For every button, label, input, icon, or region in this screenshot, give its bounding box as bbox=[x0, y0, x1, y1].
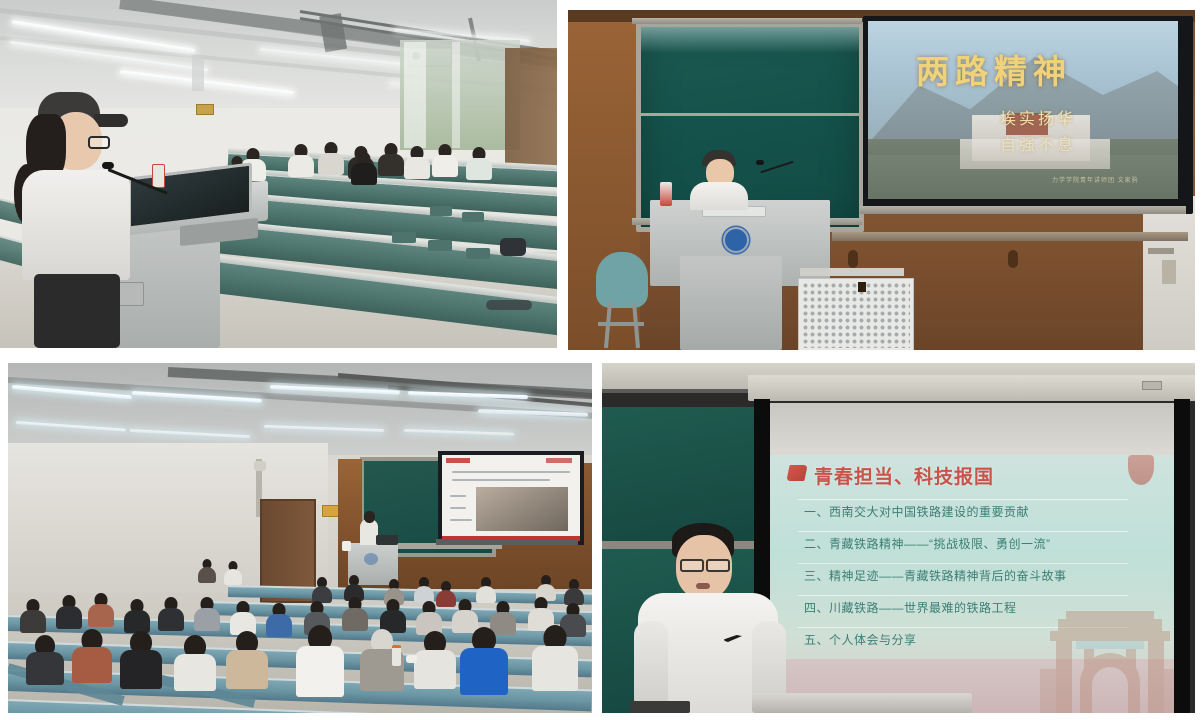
student bbox=[414, 631, 456, 689]
screen-rail bbox=[436, 539, 578, 545]
seat bbox=[462, 212, 484, 222]
student bbox=[124, 599, 150, 633]
wood-column bbox=[338, 459, 362, 551]
student bbox=[532, 625, 578, 691]
pants bbox=[34, 274, 120, 348]
slide-text-line bbox=[450, 495, 466, 497]
window-mullion bbox=[452, 42, 460, 148]
slide-logo bbox=[446, 458, 470, 463]
wall-vent bbox=[798, 278, 914, 350]
slide-item-4: 四、川藏铁路——世界最难的铁路工程 bbox=[804, 599, 1017, 616]
slide-item-divider bbox=[798, 531, 1128, 532]
chair bbox=[596, 252, 648, 308]
slide-item-divider bbox=[798, 499, 1128, 500]
slide-item-3: 三、精神足迹——青藏铁路精神背后的奋斗故事 bbox=[804, 567, 1067, 584]
student bbox=[198, 559, 216, 583]
slide-item-2: 二、青藏铁路精神——“挑战极限、勇创一流” bbox=[804, 535, 1051, 552]
seat bbox=[392, 232, 416, 243]
presenter bbox=[16, 92, 146, 348]
seat bbox=[428, 240, 452, 251]
chair-cross bbox=[598, 322, 644, 326]
mouth bbox=[696, 583, 710, 589]
torso bbox=[690, 182, 748, 210]
student bbox=[266, 603, 292, 637]
projection-screen: 两路精神 埃实扬华 自强不息 力学学院青年讲师团 文家驹 bbox=[868, 21, 1178, 199]
slide-subtitle-line1: 埃实扬华 bbox=[1000, 105, 1076, 129]
slide-photo bbox=[476, 487, 568, 531]
microphone-head bbox=[756, 160, 764, 165]
slide-top-band bbox=[770, 403, 1174, 455]
student bbox=[380, 599, 406, 633]
board-rail-top bbox=[632, 18, 862, 24]
slide-credit: 力学学院青年讲师团 文家驹 bbox=[1052, 175, 1139, 184]
student bbox=[564, 579, 584, 605]
student bbox=[414, 577, 434, 603]
podium-emblem bbox=[718, 222, 754, 258]
student bbox=[312, 577, 332, 603]
bottle bbox=[660, 182, 672, 206]
wall-sign bbox=[196, 104, 214, 115]
presenter-head bbox=[364, 511, 375, 523]
slide-text-line bbox=[450, 507, 466, 509]
podium-base bbox=[680, 256, 782, 350]
vent-dots bbox=[802, 282, 910, 348]
front-desk bbox=[752, 693, 972, 713]
student bbox=[26, 635, 64, 685]
student bbox=[230, 601, 256, 635]
wall-object bbox=[1162, 260, 1176, 284]
panel-bottom-left bbox=[8, 363, 592, 713]
wall-hole bbox=[858, 282, 866, 292]
slide-title: 青春担当、科技报国 bbox=[814, 462, 994, 489]
panel-bottom-right: 青春担当、科技报国 一、西南交大对中国铁路建设的重要贡献 二、青藏铁路精神——“… bbox=[602, 363, 1195, 713]
student bbox=[432, 144, 458, 178]
slide-title-flag-icon bbox=[786, 465, 807, 481]
cup bbox=[342, 541, 351, 551]
student bbox=[352, 152, 376, 184]
housing-label bbox=[1142, 381, 1162, 390]
slide-text-line bbox=[452, 471, 570, 473]
student bbox=[416, 601, 442, 635]
torso bbox=[22, 170, 130, 280]
student bbox=[466, 147, 492, 181]
podium-emblem bbox=[364, 553, 378, 565]
student bbox=[476, 577, 496, 603]
presenter bbox=[638, 523, 788, 713]
student bbox=[72, 629, 112, 683]
window-mullion bbox=[404, 42, 426, 148]
backpack bbox=[500, 238, 526, 256]
dark-object bbox=[630, 701, 690, 713]
student bbox=[88, 593, 114, 627]
wall-knob bbox=[1008, 250, 1018, 268]
student bbox=[342, 597, 368, 631]
projection-screen-frame: 两路精神 埃实扬华 自强不息 力学学院青年讲师团 文家驹 bbox=[863, 16, 1193, 214]
seat bbox=[430, 206, 452, 216]
slide-university-logo bbox=[1128, 455, 1154, 485]
presenter bbox=[688, 150, 750, 208]
thermos bbox=[152, 164, 165, 188]
wall-shelf bbox=[1148, 248, 1174, 254]
laptop bbox=[376, 535, 398, 545]
student bbox=[174, 635, 216, 691]
projection-screen bbox=[438, 451, 584, 545]
cable bbox=[486, 300, 532, 310]
glasses-right bbox=[706, 559, 730, 572]
student bbox=[318, 142, 344, 176]
slide-item-5: 五、个人体会与分享 bbox=[804, 631, 917, 648]
classroom-door bbox=[505, 48, 557, 170]
slide-item-divider bbox=[798, 595, 1128, 596]
photo-collage: 两路精神 埃实扬华 自强不息 力学学院青年讲师团 文家驹 bbox=[0, 0, 1202, 720]
microphone-head bbox=[102, 162, 114, 169]
screen-frame-right bbox=[1174, 399, 1190, 713]
student bbox=[226, 631, 268, 689]
student bbox=[288, 144, 314, 178]
chalkboard-divider bbox=[641, 113, 859, 116]
student bbox=[296, 625, 344, 697]
screen-housing bbox=[748, 375, 1195, 401]
chalkboard-glare bbox=[641, 27, 859, 53]
student bbox=[404, 146, 430, 180]
glasses bbox=[88, 136, 110, 149]
panel-top-left bbox=[0, 0, 557, 348]
cap-brim bbox=[94, 114, 128, 127]
student bbox=[158, 597, 184, 631]
slide-title: 两路精神 bbox=[916, 45, 1072, 93]
projection-screen: 青春担当、科技报国 一、西南交大对中国铁路建设的重要贡献 二、青藏铁路精神——“… bbox=[770, 403, 1174, 713]
glasses-left bbox=[680, 559, 704, 572]
seat bbox=[466, 248, 490, 259]
wall-fixture bbox=[254, 461, 266, 471]
vent-shelf bbox=[800, 268, 904, 276]
student bbox=[460, 627, 508, 695]
slide-brand bbox=[546, 458, 572, 463]
student bbox=[378, 143, 404, 177]
bottle bbox=[392, 645, 401, 666]
slide-text-line bbox=[452, 479, 550, 481]
student bbox=[120, 631, 162, 689]
wall-fixture bbox=[192, 55, 204, 91]
campus-arch-illustration bbox=[1040, 599, 1174, 713]
slide-subtitle-line2: 自强不息 bbox=[1000, 131, 1076, 155]
arm-left bbox=[634, 621, 668, 713]
slide-text-line bbox=[450, 519, 472, 521]
screen-bottom-rail bbox=[860, 206, 1186, 214]
student bbox=[224, 561, 242, 585]
panel-top-right: 两路精神 埃实扬华 自强不息 力学学院青年讲师团 文家驹 bbox=[568, 10, 1195, 350]
cup bbox=[406, 655, 417, 663]
student bbox=[20, 599, 46, 633]
wall-rail bbox=[832, 232, 1188, 241]
slide-item-1: 一、西南交大对中国铁路建设的重要贡献 bbox=[804, 503, 1029, 520]
student bbox=[194, 597, 220, 631]
student bbox=[56, 595, 82, 629]
wall-knob bbox=[848, 250, 858, 268]
slide-item-divider bbox=[798, 563, 1128, 564]
